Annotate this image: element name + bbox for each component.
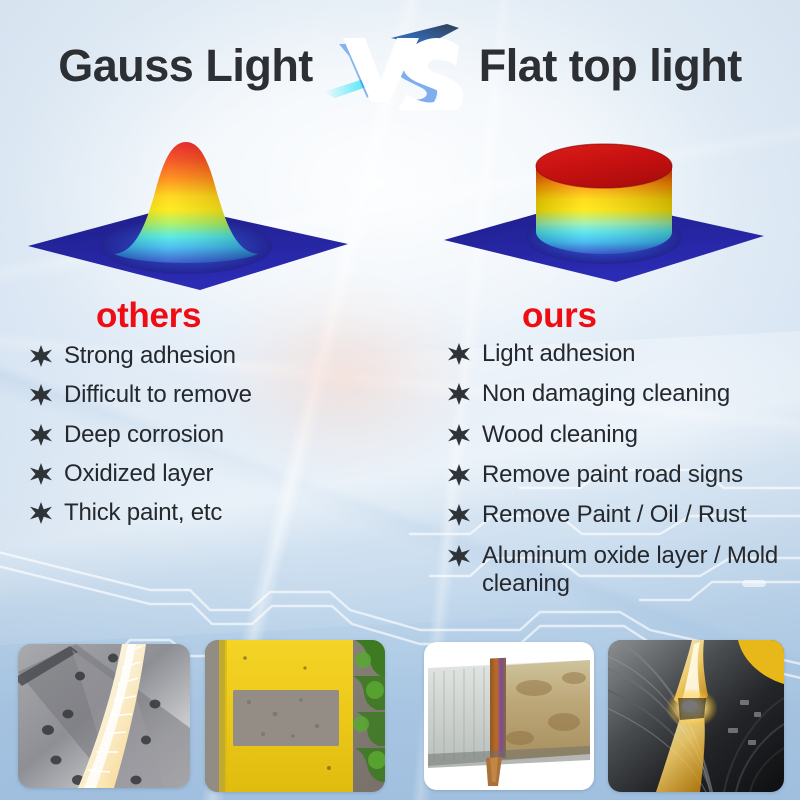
- six-pointed-star-icon: [30, 501, 52, 525]
- list-item: Remove paint road signs: [448, 461, 800, 489]
- list-item-label: Difficult to remove: [64, 381, 252, 409]
- six-pointed-star-icon: [448, 342, 470, 366]
- six-pointed-star-icon: [448, 463, 470, 487]
- photo-yellow-road-paint-removal: [205, 640, 385, 792]
- infographic-canvas: Gauss Light: [0, 0, 800, 800]
- list-item: Oxidized layer: [30, 460, 410, 488]
- list-item: Thick paint, etc: [30, 499, 410, 527]
- six-pointed-star-icon: [448, 544, 470, 568]
- list-item-label: Non damaging cleaning: [482, 380, 730, 408]
- gaussian-beam-plot: [18, 126, 358, 296]
- list-item: Wood cleaning: [448, 421, 800, 449]
- column-heading-ours: ours: [522, 296, 597, 336]
- column-heading-others: others: [96, 296, 201, 336]
- six-pointed-star-icon: [30, 423, 52, 447]
- six-pointed-star-icon: [30, 462, 52, 486]
- vs-logo-icon: VS: [321, 22, 471, 110]
- list-item-label: Deep corrosion: [64, 421, 224, 449]
- list-item-label: Oxidized layer: [64, 460, 213, 488]
- six-pointed-star-icon: [448, 503, 470, 527]
- ours-feature-list: Light adhesion Non damaging cleaning Woo…: [448, 340, 800, 610]
- list-item-label: Light adhesion: [482, 340, 635, 368]
- others-feature-list: Strong adhesion Difficult to remove Deep…: [30, 342, 410, 539]
- list-item-label: Remove Paint / Oil / Rust: [482, 501, 746, 529]
- six-pointed-star-icon: [30, 383, 52, 407]
- title-right: Flat top light: [479, 40, 742, 92]
- list-item-label: Wood cleaning: [482, 421, 638, 449]
- list-item: Remove Paint / Oil / Rust: [448, 501, 800, 529]
- list-item-label: Thick paint, etc: [64, 499, 222, 527]
- list-item-label: Remove paint road signs: [482, 461, 743, 489]
- title-left: Gauss Light: [58, 40, 313, 92]
- list-item-label: Aluminum oxide layer / Mold cleaning: [482, 542, 800, 599]
- six-pointed-star-icon: [448, 382, 470, 406]
- photo-tire-mold-laser-cleaning: [608, 640, 784, 792]
- list-item: Strong adhesion: [30, 342, 410, 370]
- list-item: Light adhesion: [448, 340, 800, 368]
- list-item: Aluminum oxide layer / Mold cleaning: [448, 542, 800, 599]
- list-item: Deep corrosion: [30, 421, 410, 449]
- six-pointed-star-icon: [448, 423, 470, 447]
- flat-top-beam-plot: [432, 122, 772, 292]
- list-item-label: Strong adhesion: [64, 342, 236, 370]
- vs-logo: VS: [321, 22, 471, 110]
- list-item: Difficult to remove: [30, 381, 410, 409]
- photo-metal-plate-laser-spark: [18, 644, 190, 788]
- list-item: Non damaging cleaning: [448, 380, 800, 408]
- header: Gauss Light: [0, 24, 800, 108]
- six-pointed-star-icon: [30, 344, 52, 368]
- photo-rusty-metal-strip-cleaning: [424, 642, 594, 790]
